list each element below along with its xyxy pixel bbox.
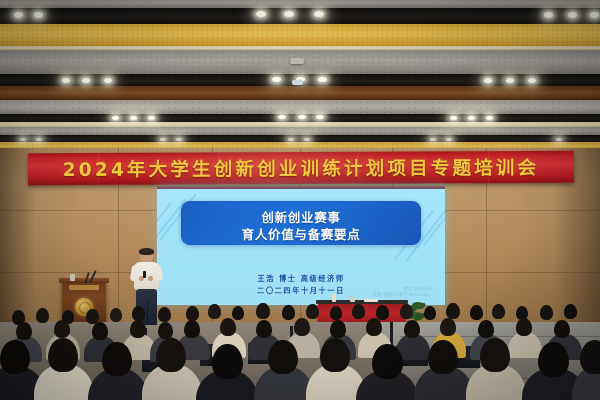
audience-head <box>470 305 483 320</box>
conference-photo-scene: 2024年大学生创新创业训练计划项目专题培训会 创新创业赛事 育人价值与备赛要点… <box>0 0 600 400</box>
audience-head <box>132 306 145 321</box>
audience-head <box>330 306 342 320</box>
audience-head <box>400 304 413 319</box>
audience-head <box>158 322 173 339</box>
audience-head <box>130 320 146 338</box>
audience-head <box>212 344 243 379</box>
audience-head <box>480 338 510 372</box>
audience-head <box>48 338 78 372</box>
audience-head <box>294 318 310 336</box>
audience-head <box>306 304 319 319</box>
audience-head <box>540 305 553 320</box>
audience-head <box>0 340 30 374</box>
audience-head <box>428 340 458 374</box>
audience-head <box>156 338 186 372</box>
audience-head <box>208 304 221 319</box>
audience-head <box>424 306 436 320</box>
audience-head <box>36 308 49 323</box>
audience-head <box>256 320 272 338</box>
audience-head <box>352 304 365 319</box>
audience-head <box>478 320 494 338</box>
audience-head <box>320 338 350 372</box>
audience-head <box>54 320 70 338</box>
audience-head <box>580 340 600 374</box>
audience-head <box>184 320 200 338</box>
audience-head <box>372 344 403 379</box>
audience <box>0 0 600 400</box>
audience-head <box>446 303 460 319</box>
audience-head <box>516 318 532 336</box>
audience-head <box>158 307 171 322</box>
audience-head <box>186 306 199 321</box>
audience-head <box>538 342 569 377</box>
audience-head <box>102 342 132 376</box>
audience-head <box>220 318 236 336</box>
audience-head <box>282 305 295 320</box>
audience-head <box>232 306 244 320</box>
audience-head <box>330 320 346 338</box>
audience-head <box>256 303 270 319</box>
audience-head <box>554 320 570 338</box>
audience-head <box>366 318 382 336</box>
audience-head <box>440 318 456 336</box>
audience-head <box>564 304 577 319</box>
audience-head <box>92 322 108 340</box>
audience-head <box>268 340 298 374</box>
audience-head <box>16 322 32 340</box>
audience-head <box>110 308 122 322</box>
audience-head <box>404 320 420 338</box>
audience-head <box>376 305 389 320</box>
audience-head <box>492 304 505 319</box>
